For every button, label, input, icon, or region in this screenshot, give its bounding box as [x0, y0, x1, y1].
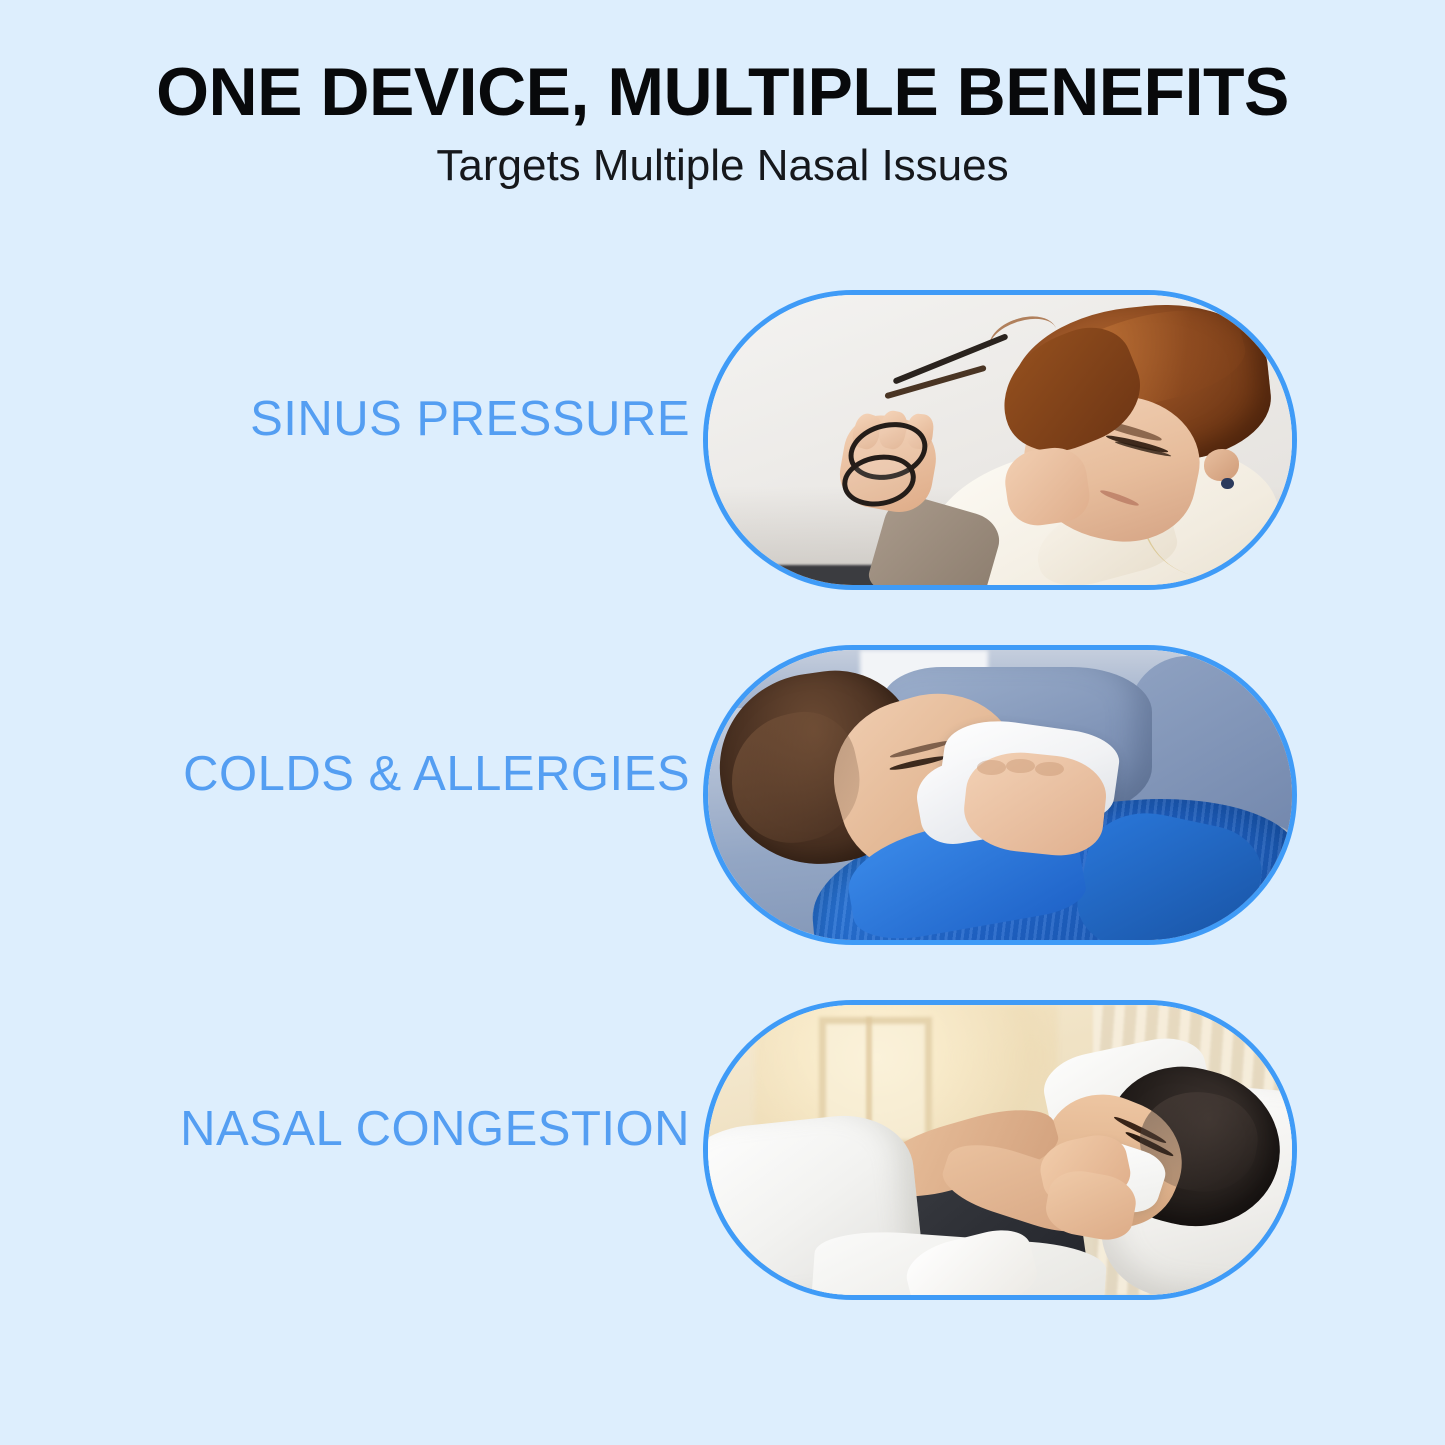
page-subtitle: Targets Multiple Nasal Issues	[0, 142, 1445, 190]
benefit-row: COLDS & ALLERGIES	[0, 640, 1445, 950]
knuckle	[1006, 759, 1035, 774]
benefit-label-colds-allergies: COLDS & ALLERGIES	[0, 750, 712, 799]
benefit-image-colds-allergies	[703, 645, 1297, 945]
earring	[1221, 478, 1234, 490]
page-title: ONE DEVICE, MULTIPLE BENEFITS	[0, 58, 1445, 126]
benefit-image-nasal-congestion	[703, 1000, 1297, 1300]
ear	[1204, 449, 1239, 481]
benefits-poster: ONE DEVICE, MULTIPLE BENEFITS Targets Mu…	[0, 0, 1445, 1445]
illustration-nasal-congestion	[708, 1005, 1292, 1295]
illustration-colds-allergies	[708, 650, 1292, 940]
benefit-label-sinus-pressure: SINUS PRESSURE	[0, 395, 788, 444]
benefit-row: SINUS PRESSURE	[0, 285, 1445, 595]
benefit-label-nasal-congestion: NASAL CONGESTION	[0, 1105, 695, 1154]
benefit-image-sinus-pressure	[703, 290, 1297, 590]
benefit-row: NASAL CONGESTION	[0, 995, 1445, 1305]
illustration-sinus-pressure	[708, 295, 1292, 585]
knuckle	[1035, 762, 1064, 777]
window-mullion	[866, 1017, 872, 1133]
knuckle	[977, 760, 1006, 775]
